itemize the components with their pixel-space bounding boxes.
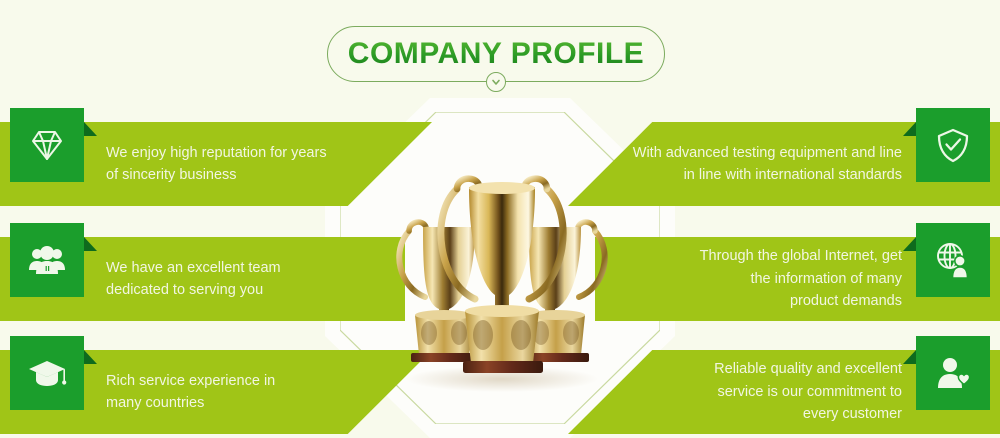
- feature-left-3: Rich service experience in many countrie…: [0, 350, 432, 434]
- feature-right-2: Through the global Internet, get the inf…: [568, 237, 1000, 321]
- feature-line: every customer: [803, 403, 902, 425]
- feature-text: Rich service experience in many countrie…: [106, 350, 362, 434]
- feature-line: product demands: [790, 290, 902, 312]
- feature-text: We enjoy high reputation for years of si…: [106, 122, 362, 206]
- feature-line: dedicated to serving you: [106, 279, 263, 301]
- page-title: COMPANY PROFILE: [348, 37, 644, 71]
- user-heart-icon: [916, 336, 990, 410]
- feature-text: With advanced testing equipment and line…: [628, 122, 902, 206]
- feature-line: We have an excellent team: [106, 257, 281, 279]
- feature-line: With advanced testing equipment and line: [633, 142, 902, 164]
- feature-line: the information of many: [750, 268, 902, 290]
- diamond-icon: [10, 108, 84, 182]
- feature-text: Through the global Internet, get the inf…: [628, 237, 902, 321]
- feature-line: Through the global Internet, get: [700, 245, 902, 267]
- shield-check-icon: [916, 108, 990, 182]
- section-title: COMPANY PROFILE: [327, 26, 665, 82]
- feature-left-1: We enjoy high reputation for years of si…: [0, 122, 432, 206]
- feature-line: We enjoy high reputation for years: [106, 142, 327, 164]
- feature-line: service is our commitment to: [717, 381, 902, 403]
- feature-line: Reliable quality and excellent: [714, 358, 902, 380]
- feature-line: Rich service experience in: [106, 370, 275, 392]
- graduation-cap-icon: [10, 336, 84, 410]
- feature-left-2: We have an excellent team dedicated to s…: [0, 237, 432, 321]
- feature-line: many countries: [106, 392, 204, 414]
- company-profile-banner: We enjoy high reputation for years of si…: [0, 0, 1000, 438]
- feature-right-3: Reliable quality and excellent service i…: [568, 350, 1000, 434]
- feature-line: of sincerity business: [106, 164, 237, 186]
- chevron-down-icon: [486, 72, 506, 92]
- feature-text: Reliable quality and excellent service i…: [628, 350, 902, 434]
- feature-text: We have an excellent team dedicated to s…: [106, 237, 362, 321]
- feature-right-1: With advanced testing equipment and line…: [568, 122, 1000, 206]
- globe-user-icon: [916, 223, 990, 297]
- team-group-icon: [10, 223, 84, 297]
- feature-line: in line with international standards: [684, 164, 902, 186]
